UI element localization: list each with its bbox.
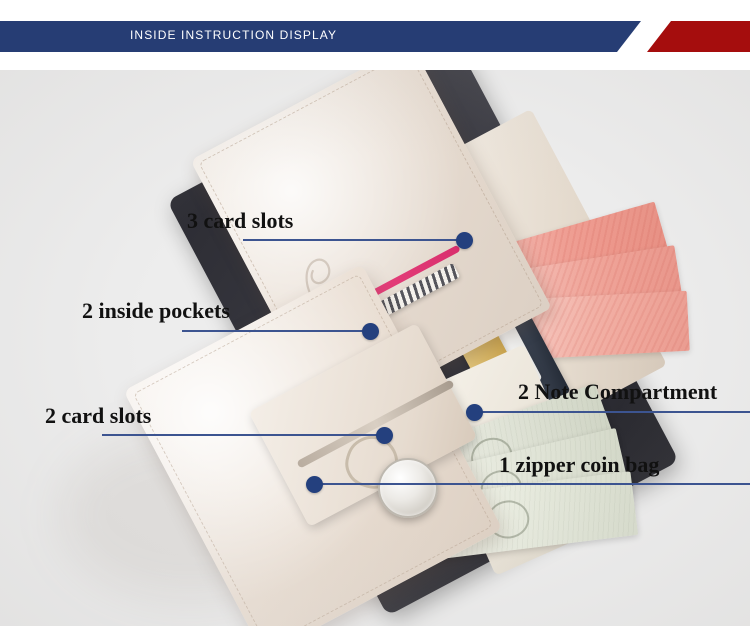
callout-dot <box>456 232 473 249</box>
wallet-illustration <box>150 70 670 620</box>
callout-label: 2 card slots <box>45 403 151 429</box>
callout-label: 2 inside pockets <box>82 298 230 324</box>
banner-title: INSIDE INSTRUCTION DISPLAY <box>130 28 337 42</box>
callout-leader-line <box>243 239 465 241</box>
callout-leader-line <box>182 330 371 332</box>
callout-dot <box>376 427 393 444</box>
callout-label: 1 zipper coin bag <box>499 452 659 478</box>
callout-dot <box>362 323 379 340</box>
callout-leader-line <box>102 434 384 436</box>
product-infographic: INSIDE INSTRUCTION DISPLAY <box>0 0 750 626</box>
header-banner: INSIDE INSTRUCTION DISPLAY <box>0 0 750 70</box>
banner-red-shape <box>647 21 750 52</box>
callout-leader-line <box>478 411 750 413</box>
callout-dot <box>306 476 323 493</box>
callout-label: 2 Note Compartment <box>518 379 717 405</box>
callout-dot <box>466 404 483 421</box>
callout-leader-line <box>322 483 750 485</box>
silver-coin <box>378 458 438 518</box>
product-photo <box>0 70 750 626</box>
callout-label: 3 card slots <box>187 208 293 234</box>
